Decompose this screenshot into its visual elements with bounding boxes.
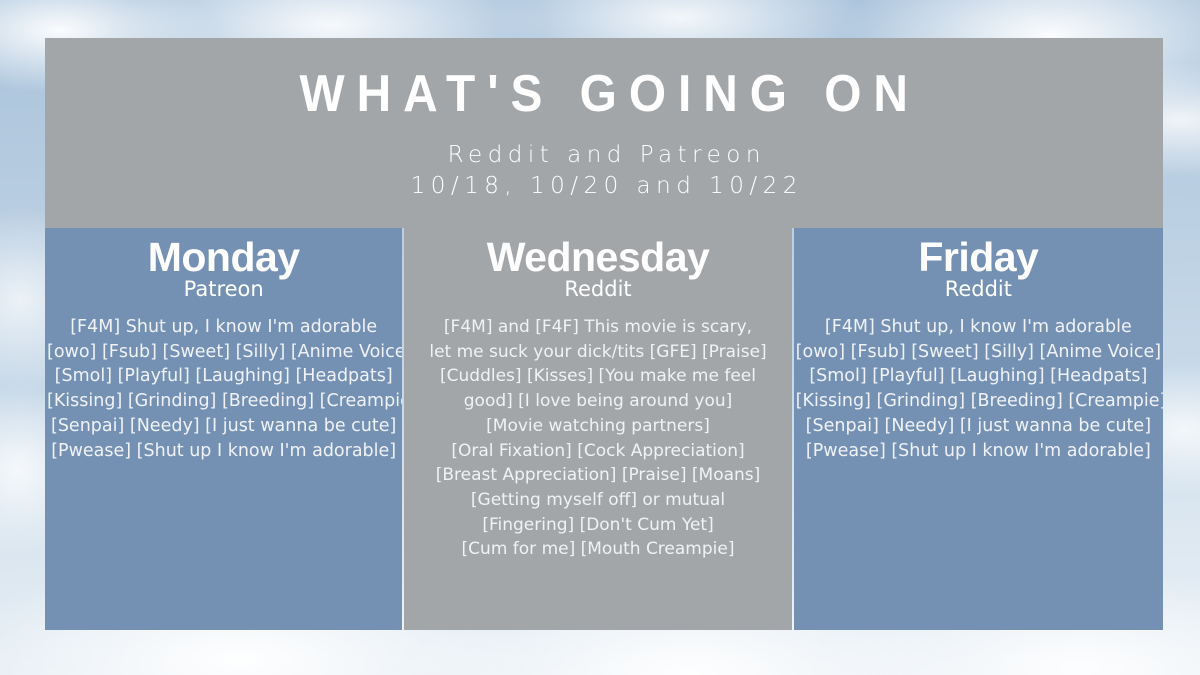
day-line: [owo] [Fsub] [Sweet] [Silly] [Anime Voic… [47, 340, 400, 365]
day-line: [Movie watching partners] [406, 414, 789, 439]
day-line: [Pwease] [Shut up I know I'm adorable] [796, 439, 1161, 464]
day-lines-friday: [F4M] Shut up, I know I'm adorable [owo]… [794, 315, 1163, 463]
day-lines-wednesday: [F4M] and [F4F] This movie is scary, let… [404, 315, 791, 562]
header-band: WHAT'S GOING ON Reddit and Patreon 10/18… [45, 38, 1163, 228]
day-line: good] [I love being around you] [406, 389, 789, 414]
day-line: [Oral Fixation] [Cock Appreciation] [406, 439, 789, 464]
day-line: [Kissing] [Grinding] [Breeding] [Creampi… [47, 389, 400, 414]
schedule-column-wednesday: Wednesday Reddit [F4M] and [F4F] This mo… [404, 228, 791, 630]
day-line: [Senpai] [Needy] [I just wanna be cute] [47, 414, 400, 439]
subtitle-dates: 10/18, 10/20 and 10/22 [405, 171, 803, 202]
day-title-wednesday: Wednesday [404, 236, 791, 278]
day-title-friday: Friday [794, 236, 1163, 278]
day-line: [Breast Appreciation] [Praise] [Moans] [406, 463, 789, 488]
day-line: [Pwease] [Shut up I know I'm adorable] [47, 439, 400, 464]
day-line: [Fingering] [Don't Cum Yet] [406, 513, 789, 538]
day-line: [Cuddles] [Kisses] [You make me feel [406, 364, 789, 389]
day-source-friday: Reddit [794, 278, 1163, 301]
day-line: let me suck your dick/tits [GFE] [Praise… [406, 340, 789, 365]
schedule-column-friday: Friday Reddit [F4M] Shut up, I know I'm … [794, 228, 1163, 630]
day-line: [F4M] Shut up, I know I'm adorable [796, 315, 1161, 340]
day-line: [Kissing] [Grinding] [Breeding] [Creampi… [796, 389, 1161, 414]
day-line: [F4M] Shut up, I know I'm adorable [47, 315, 400, 340]
day-line: [Smol] [Playful] [Laughing] [Headpats] [796, 364, 1161, 389]
subtitle-platforms: Reddit and Patreon [405, 140, 803, 171]
day-line: [owo] [Fsub] [Sweet] [Silly] [Anime Voic… [796, 340, 1161, 365]
day-line: [Getting myself off] or mutual [406, 488, 789, 513]
day-line: [Cum for me] [Mouth Creampie] [406, 537, 789, 562]
day-source-wednesday: Reddit [404, 278, 791, 301]
schedule-columns: Monday Patreon [F4M] Shut up, I know I'm… [45, 228, 1163, 630]
schedule-column-monday: Monday Patreon [F4M] Shut up, I know I'm… [45, 228, 402, 630]
day-title-monday: Monday [45, 236, 402, 278]
subtitle-block: Reddit and Patreon 10/18, 10/20 and 10/2… [405, 140, 803, 202]
day-line: [Senpai] [Needy] [I just wanna be cute] [796, 414, 1161, 439]
schedule-card: WHAT'S GOING ON Reddit and Patreon 10/18… [45, 38, 1163, 630]
day-source-monday: Patreon [45, 278, 402, 301]
page-title: WHAT'S GOING ON [288, 64, 920, 124]
day-line: [Smol] [Playful] [Laughing] [Headpats] [47, 364, 400, 389]
day-line: [F4M] and [F4F] This movie is scary, [406, 315, 789, 340]
day-lines-monday: [F4M] Shut up, I know I'm adorable [owo]… [45, 315, 402, 463]
